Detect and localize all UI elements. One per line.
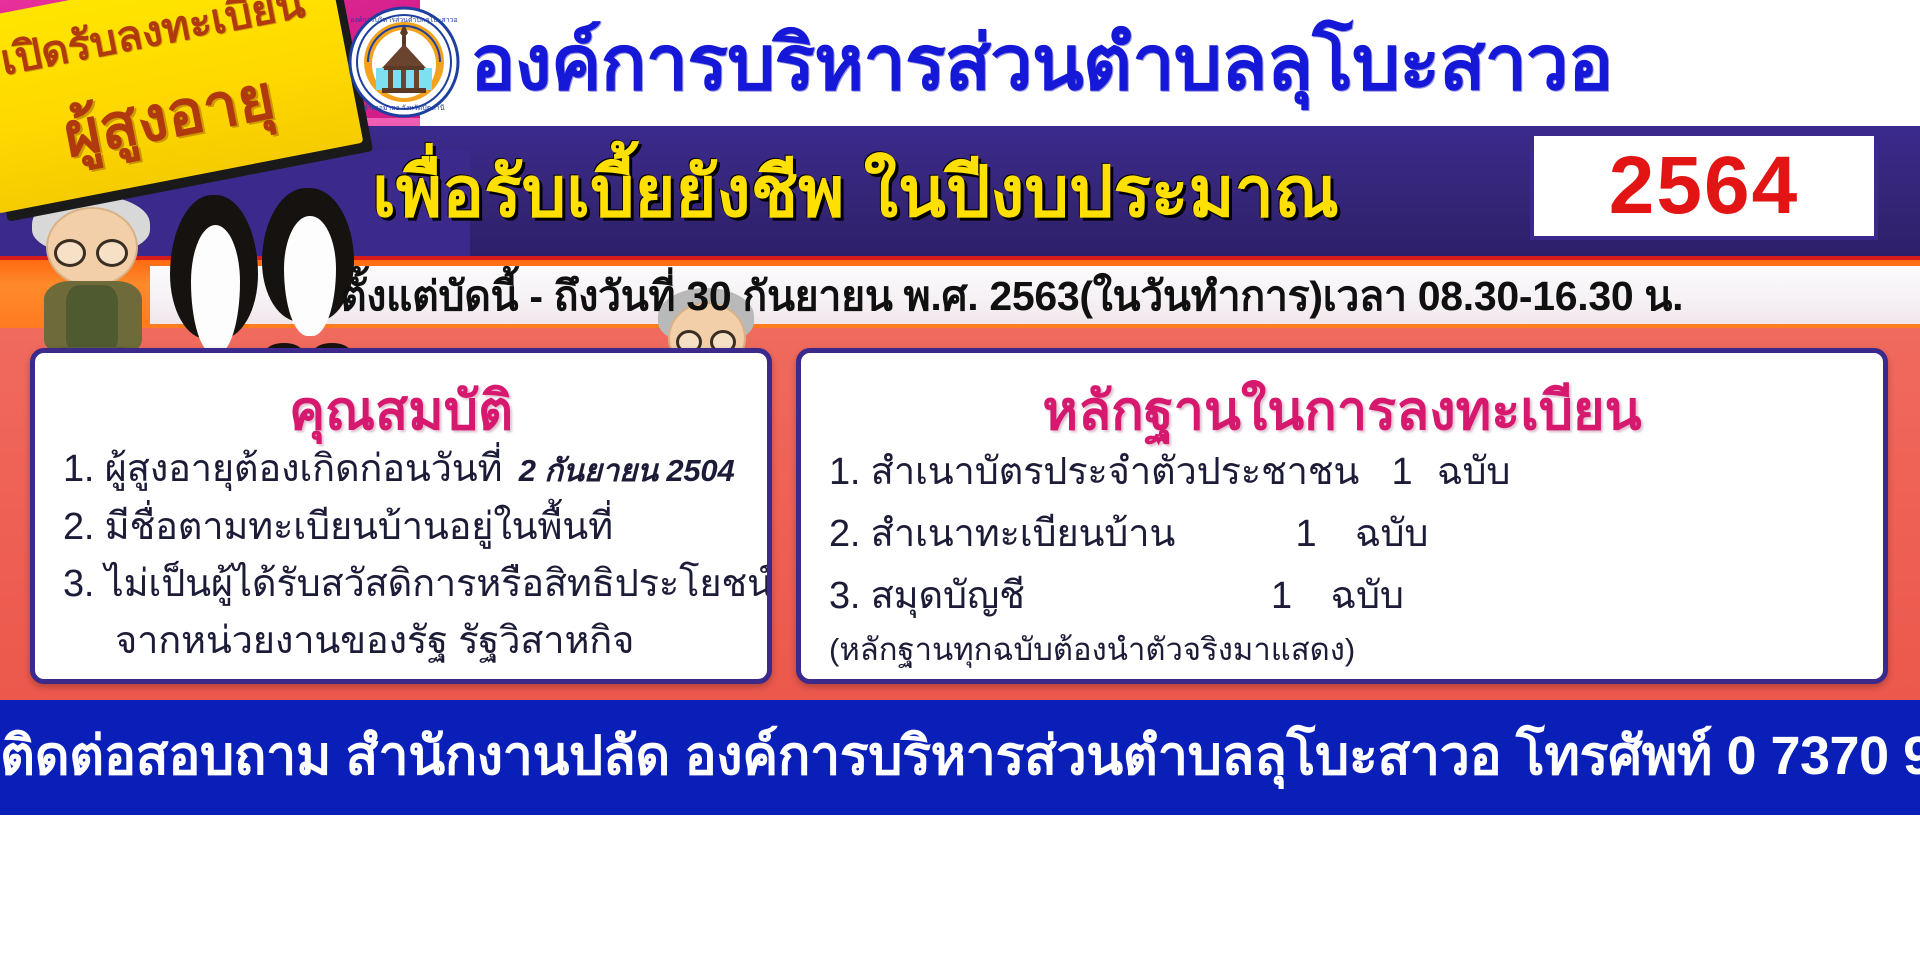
item-text: สำเนาทะเบียนบ้าน: [871, 513, 1175, 555]
svg-text:อำเภอมายอ จังหวัดปัตตานี: อำเภอมายอ จังหวัดปัตตานี: [363, 104, 444, 112]
item-unit: ฉบับ: [1327, 513, 1429, 555]
item-number: 2.: [829, 513, 860, 555]
item-count: 1: [1369, 451, 1412, 493]
list-item: 3. ไม่เป็นผู้ได้รับสวัสดิการหรือสิทธิประ…: [63, 556, 751, 613]
qualifications-list: 1. ผู้สูงอายุต้องเกิดก่อนวันที่ 2 กันยาย…: [63, 441, 751, 670]
item-text: สำเนาบัตรประจำตัวประชาชน: [871, 451, 1359, 493]
budget-year-box: 2564: [1530, 132, 1878, 240]
item-text: ไม่เป็นผู้ได้รับสวัสดิการหรือสิทธิประโยช…: [105, 563, 772, 605]
list-item: 1. ผู้สูงอายุต้องเกิดก่อนวันที่ 2 กันยาย…: [63, 441, 751, 499]
list-item: 2. สำเนาทะเบียนบ้าน 1 ฉบับ: [829, 503, 1867, 565]
item-number: 3.: [63, 563, 94, 605]
list-item: 3. สมุดบัญชี 1 ฉบับ: [829, 565, 1867, 627]
item-text: มีชื่อตามทะเบียนบ้านอยู่ในพื้นที่: [105, 506, 613, 548]
page-title: องค์การบริหารส่วนตำบลลุโบะสาวอ: [470, 14, 1910, 114]
registration-period-text: ตั้งแต่บัดนี้ - ถึงวันที่ 30 กันยายน พ.ศ…: [340, 268, 1915, 324]
item-number: 2.: [63, 506, 94, 548]
item-number: 1.: [829, 451, 860, 493]
item-number: 3.: [829, 575, 860, 617]
item-unit: ฉบับ: [1423, 451, 1511, 493]
budget-year-value: 2564: [1609, 145, 1799, 227]
list-item: 2. มีชื่อตามทะเบียนบ้านอยู่ในพื้นที่: [63, 499, 751, 556]
footer-contact: ติดต่อสอบถาม สำนักงานปลัด องค์การบริหารส…: [0, 700, 1920, 810]
qualifications-panel: คุณสมบัติ 1. ผู้สูงอายุต้องเกิดก่อนวันที…: [30, 348, 772, 684]
svg-text:องค์การบริหารส่วนตำบลลุโบะสาวอ: องค์การบริหารส่วนตำบลลุโบะสาวอ: [350, 15, 458, 24]
item-handwritten-date: 2 กันยายน 2504: [513, 453, 735, 488]
documents-note: (หลักฐานทุกฉบับต้องนำตัวจริงมาแสดง): [829, 627, 1867, 673]
item-count: 1: [1035, 575, 1292, 617]
item-text: ผู้สูงอายุต้องเกิดก่อนวันที่: [105, 448, 503, 490]
background-footer-white: [0, 815, 1920, 960]
list-item-continuation: จากหน่วยงานของรัฐ รัฐวิสาหกิจ: [63, 613, 751, 670]
emblem-logo: องค์การบริหารส่วนตำบลลุโบะสาวอ อำเภอมายอ…: [348, 6, 460, 118]
documents-panel: หลักฐานในการลงทะเบียน 1. สำเนาบัตรประจำต…: [796, 348, 1888, 684]
item-unit: ฉบับ: [1302, 575, 1404, 617]
documents-list: 1. สำเนาบัตรประจำตัวประชาชน 1 ฉบับ 2. สำ…: [829, 441, 1867, 673]
item-count: 1: [1186, 513, 1317, 555]
item-number: 1.: [63, 448, 94, 490]
poster-root: เปิดรับลงทะเบียน ผู้สูงอายุ องค์การบริหา…: [0, 0, 1920, 960]
item-text: สมุดบัญชี: [871, 575, 1025, 617]
banner-subtitle: เพื่อรับเบี้ยยังชีพ ในปีงบประมาณ: [372, 136, 1432, 246]
list-item: 1. สำเนาบัตรประจำตัวประชาชน 1 ฉบับ: [829, 441, 1867, 503]
item-text-continuation: จากหน่วยงานของรัฐ รัฐวิสาหกิจ: [63, 613, 634, 670]
